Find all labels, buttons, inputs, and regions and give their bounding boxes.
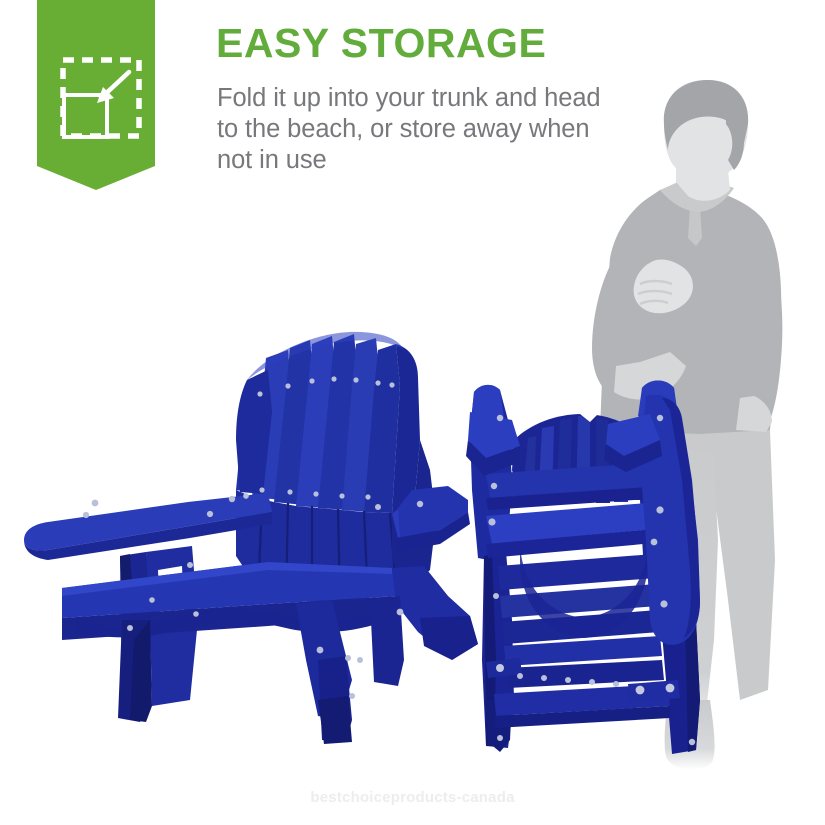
infographic-canvas: EASY STORAGE Fold it up into your trunk …: [0, 0, 825, 825]
watermark: bestchoiceproducts-canada: [0, 789, 825, 806]
easy-storage-ribbon: [37, 0, 155, 190]
open-adirondack-chair: [24, 332, 478, 744]
folded-adirondack-chair: [466, 381, 700, 755]
person-silhouette: [592, 80, 782, 770]
page-title: EASY STORAGE: [216, 22, 546, 65]
page-description: Fold it up into your trunk and head to t…: [217, 83, 617, 176]
fold-storage-icon: [57, 54, 147, 146]
